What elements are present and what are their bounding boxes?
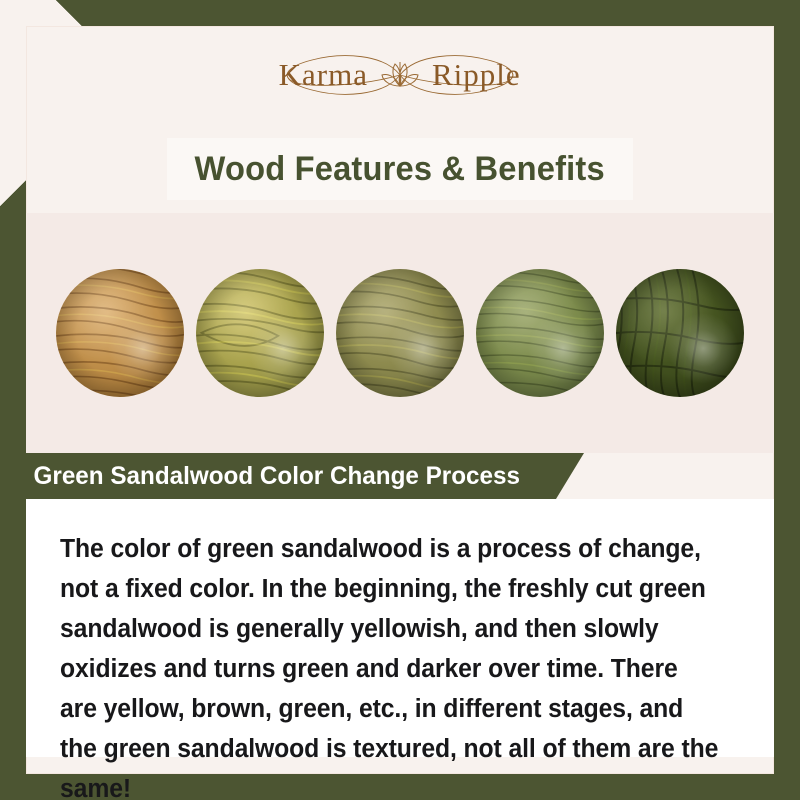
bead-shading [196, 269, 324, 397]
logo-word-ripple: Ripple [432, 57, 521, 92]
description-panel: The color of green sandalwood is a proce… [26, 499, 774, 757]
bead-shading [56, 269, 184, 397]
lotus-flourish-icon: Karma Ripple [250, 46, 550, 104]
bead-shading [336, 269, 464, 397]
poster-canvas: Karma Ripple Wood Features & Benefits [0, 0, 800, 800]
section-banner-label: Green Sandalwood Color Change Process [34, 462, 520, 491]
frame-band-left [0, 205, 26, 800]
frame-band-top [80, 0, 800, 26]
description-paragraph: The color of green sandalwood is a proce… [60, 529, 720, 800]
title-box: Wood Features & Benefits [167, 138, 633, 200]
page-title: Wood Features & Benefits [195, 150, 605, 189]
bead-stage-3 [336, 269, 464, 397]
bead-shading [616, 269, 744, 397]
bead-stage-2 [196, 269, 324, 397]
frame-notch-top-left [56, 0, 82, 26]
frame-notch-left [0, 180, 26, 206]
logo-word-karma: Karma [279, 57, 368, 92]
frame-band-right [774, 0, 800, 800]
bead-stage-4 [476, 269, 604, 397]
section-banner: Green Sandalwood Color Change Process [0, 453, 584, 499]
bead-stage-5 [616, 269, 744, 397]
bead-color-stage-strip [26, 213, 774, 453]
brand-logo: Karma Ripple [0, 44, 800, 106]
bead-stage-1 [56, 269, 184, 397]
bead-shading [476, 269, 604, 397]
